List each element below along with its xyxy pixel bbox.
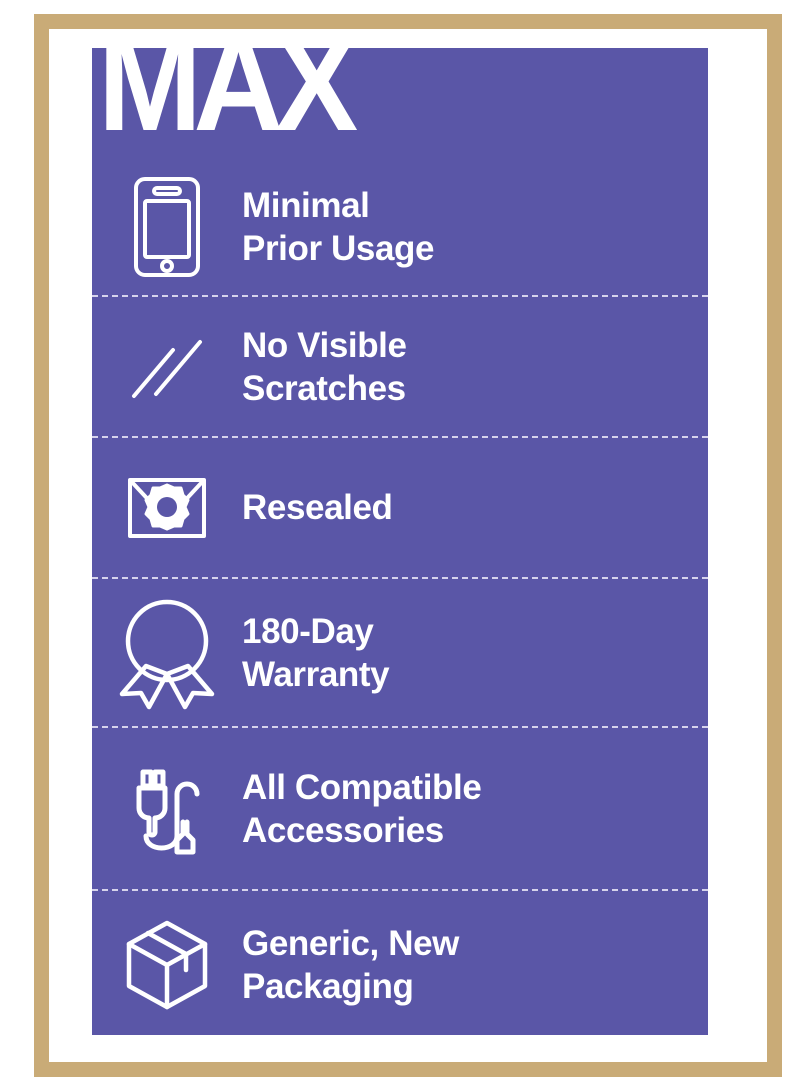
feature-label-packaging: Generic, New Packaging — [242, 922, 708, 1008]
feature-list: Minimal Prior Usage No Visible Scratches — [92, 158, 708, 1035]
feature-row-resealed: Resealed — [92, 438, 708, 577]
purple-panel: MAX Minimal Prior Usage — [92, 48, 708, 1035]
sealed-envelope-icon — [92, 477, 242, 539]
infographic-card: MAX Minimal Prior Usage — [0, 0, 800, 1091]
feature-row-accessories: All Compatible Accessories — [92, 728, 708, 889]
feature-row-no-visible-scratches: No Visible Scratches — [92, 297, 708, 436]
award-rosette-icon — [92, 598, 242, 708]
usb-cable-icon — [92, 760, 242, 858]
feature-row-packaging: Generic, New Packaging — [92, 891, 708, 1035]
feature-label-resealed: Resealed — [242, 486, 708, 529]
feature-label-minimal-prior-usage: Minimal Prior Usage — [242, 184, 708, 270]
scratch-lines-icon — [92, 332, 242, 402]
feature-row-warranty: 180-Day Warranty — [92, 579, 708, 726]
feature-label-accessories: All Compatible Accessories — [242, 766, 708, 852]
feature-label-warranty: 180-Day Warranty — [242, 610, 708, 696]
feature-label-no-visible-scratches: No Visible Scratches — [242, 324, 708, 410]
brand-title: MAX — [98, 48, 350, 152]
smartphone-icon — [92, 175, 242, 279]
shipping-box-icon — [92, 919, 242, 1011]
feature-row-minimal-prior-usage: Minimal Prior Usage — [92, 158, 708, 295]
